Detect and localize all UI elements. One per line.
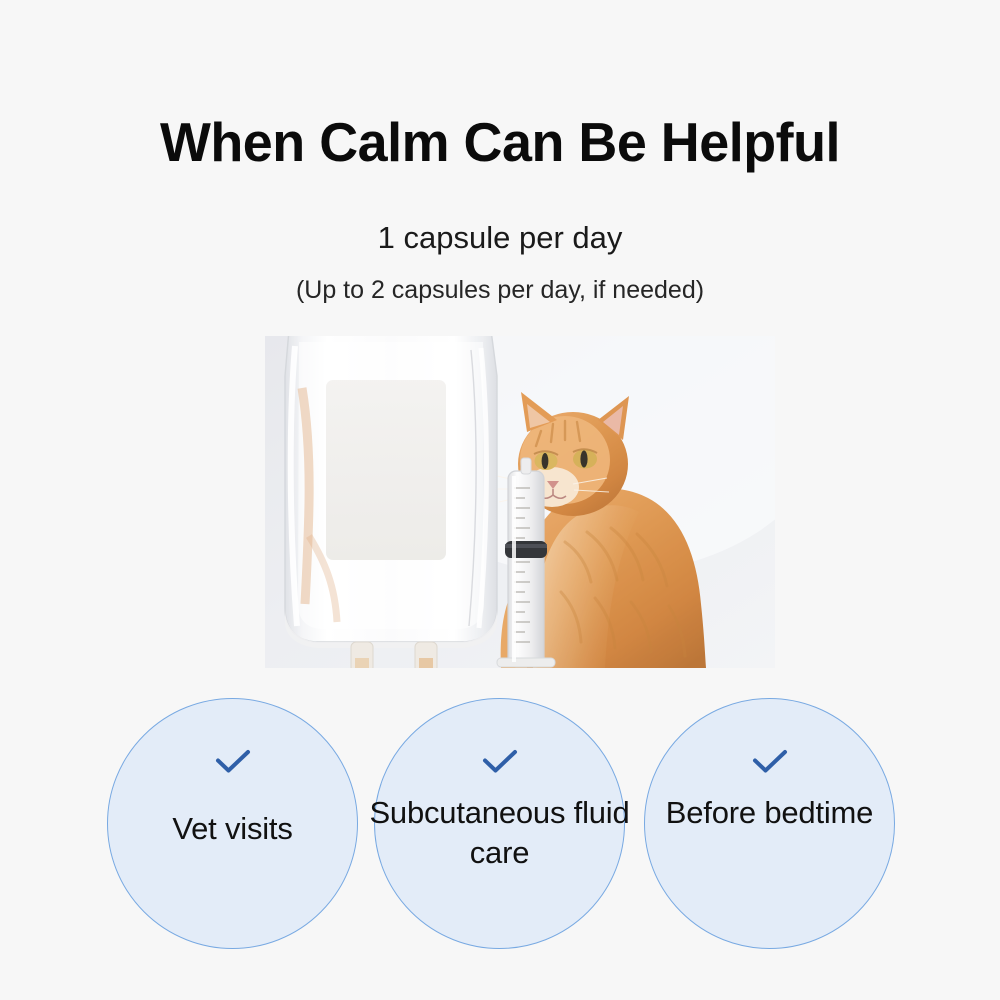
page-title: When Calm Can Be Helpful <box>10 112 990 173</box>
product-photo <box>265 336 775 668</box>
use-case-circle-subcutaneous-fluid-care[interactable]: Subcutaneous fluid care <box>374 698 625 949</box>
use-case-circle-vet-visits[interactable]: Vet visits <box>107 698 358 949</box>
check-icon <box>751 747 789 775</box>
use-case-label: Vet visits <box>88 809 378 849</box>
use-case-list: Vet visits Subcutaneous fluid care Befor… <box>0 698 1000 956</box>
check-icon <box>214 747 252 775</box>
check-icon <box>481 747 519 775</box>
use-case-label: Subcutaneous fluid care <box>355 793 645 872</box>
promo-card: When Calm Can Be Helpful 1 capsule per d… <box>0 0 1000 1000</box>
use-case-circle-before-bedtime[interactable]: Before bedtime <box>644 698 895 949</box>
use-case-label: Before bedtime <box>650 793 890 833</box>
dosage-note-text: (Up to 2 capsules per day, if needed) <box>0 275 1000 305</box>
dosage-text: 1 capsule per day <box>0 219 1000 256</box>
